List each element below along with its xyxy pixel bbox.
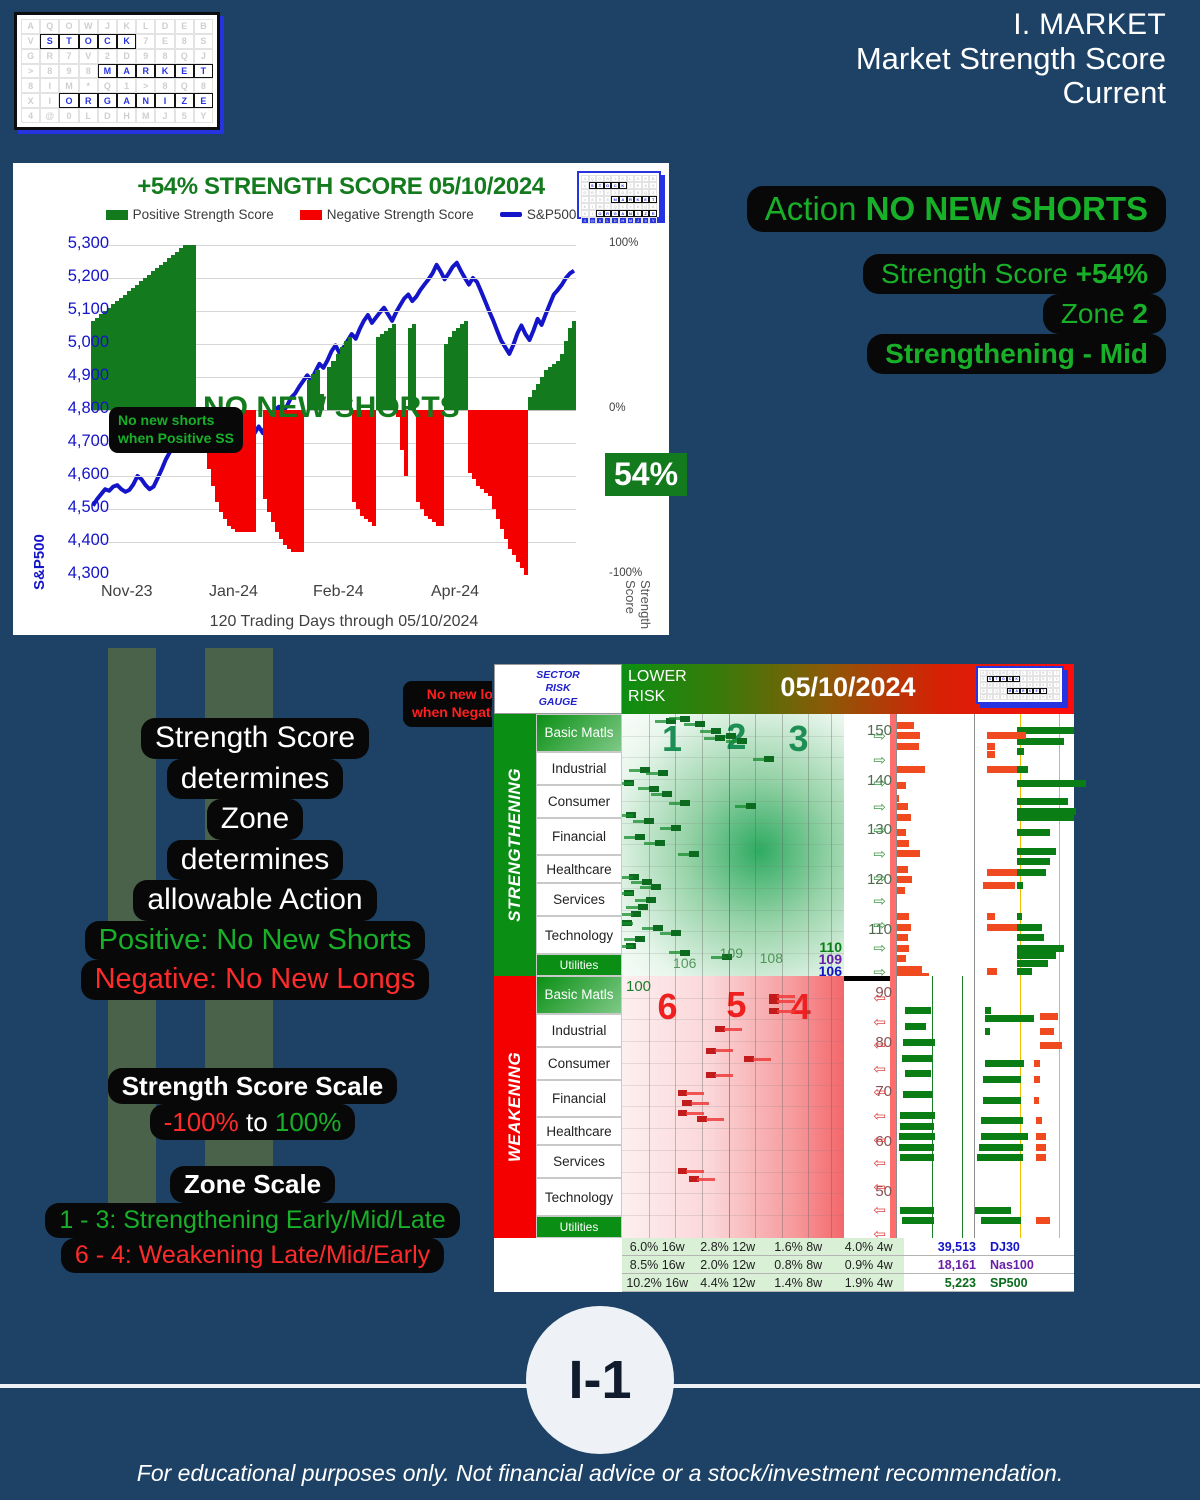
logo-cell: 7	[136, 34, 155, 49]
mini-bar	[1036, 1154, 1046, 1161]
strengthening-half: STRENGTHENING Basic MatlsIndustrialConsu…	[494, 714, 1074, 976]
logo-cell: W	[604, 175, 612, 182]
logo-cell: M	[136, 108, 155, 123]
disclaimer-text: For educational purposes only. Not finan…	[0, 1460, 1200, 1487]
logo-cell: 8	[155, 78, 174, 93]
sector-risk-gauge: SECTOR RISK GAUGE LOWER RISK 05/10/2024 …	[492, 662, 1076, 1294]
index-name: SP500	[982, 1276, 1074, 1290]
mini-index-inline-value: 109	[720, 945, 743, 961]
score-scale-range: -100% to 100%	[150, 1104, 356, 1140]
y-axis-tick: 5,100	[49, 300, 109, 319]
sector-row-healthcare[interactable]: Healthcare	[536, 1117, 622, 1145]
chart-gridline	[91, 245, 576, 246]
table-cell: 1.9% 4w	[834, 1274, 905, 1291]
mini-bar	[983, 1076, 1021, 1083]
weakening-axis-label: WEAKENING	[494, 976, 536, 1238]
chart-legend: Positive Strength Score Negative Strengt…	[13, 207, 669, 222]
sector-row-basic-matls[interactable]: Basic Matls	[536, 714, 622, 752]
y-axis-tick: 4,300	[49, 564, 109, 583]
logo-cell: Q	[980, 694, 987, 700]
chart-brand-logo: AQOWJKLDEBVSTOCK7E8SGR7V2D98QJ>898MARKET…	[577, 171, 661, 219]
logo-cell: J	[98, 19, 117, 34]
mini-bars-top-right	[974, 714, 1074, 976]
logo-cell: E	[642, 175, 650, 182]
zone-scale-title: Zone Scale	[170, 1166, 335, 1202]
action-label: Action	[765, 190, 857, 227]
mini-bar	[902, 1055, 933, 1062]
action-value: NO NEW SHORTS	[866, 190, 1148, 227]
logo-cell: T	[649, 196, 657, 203]
sector-row-consumer[interactable]: Consumer	[536, 785, 622, 818]
table-cell: 1.6% 8w	[763, 1238, 834, 1255]
gauge-brand-logo: AQOWJKLDEBV7ESTOCK8SGR7V2D98QJ>8988IM*Q1…	[976, 666, 1064, 704]
y-axis-tick: 5,300	[49, 234, 109, 253]
gauge-index-table: 6.0% 16w2.8% 12w1.6% 8w4.0% 4w39,513DJ30…	[622, 1238, 1074, 1292]
mini-bar	[1040, 1042, 1062, 1049]
sector-row-financial[interactable]: Financial	[536, 1080, 622, 1118]
logo-cell: Q	[98, 78, 117, 93]
y-axis-tick: 4,500	[49, 498, 109, 517]
logo-cell: 1	[117, 78, 136, 93]
mini-bar	[1040, 1028, 1054, 1035]
explainer-line-5: allowable Action	[133, 880, 376, 921]
logo-cell: 0	[59, 108, 78, 123]
logo-cell: I	[1000, 694, 1007, 700]
arrow-right-icon: ⇨	[873, 821, 886, 839]
mini-bar	[897, 840, 909, 847]
logo-cell: K	[634, 196, 642, 203]
logo-cell: >	[581, 196, 589, 203]
strength-score-value: +54%	[1076, 258, 1148, 289]
logo-cell: J	[649, 189, 657, 196]
mini-bar	[1036, 1133, 1046, 1140]
logo-cell: Q	[175, 78, 194, 93]
logo-cell: >	[627, 203, 635, 210]
logo-cell: A	[21, 19, 40, 34]
legend-item-sp500: S&P500	[500, 207, 577, 222]
arrow-left-icon: ⇦	[873, 1154, 886, 1172]
logo-cell: Q	[40, 19, 59, 34]
y-axis-tick: 4,600	[49, 465, 109, 484]
sector-marker-trail	[686, 1092, 704, 1095]
gauge-gridline-h	[622, 1215, 844, 1216]
logo-cell: R	[627, 196, 635, 203]
legend-label-sp500: S&P500	[527, 207, 577, 222]
logo-cell: R	[79, 93, 98, 108]
mini-bar	[897, 803, 908, 810]
mini-bar	[987, 968, 997, 975]
logo-cell: J	[611, 175, 619, 182]
explainer-positive-value: No New Shorts	[216, 924, 411, 956]
logo-cell: O	[596, 210, 604, 217]
logo-cell: R	[604, 210, 612, 217]
mini-bar	[975, 1207, 1011, 1214]
mini-bar	[1017, 814, 1074, 821]
page-title: Market Strength Score	[856, 42, 1166, 77]
mini-bar	[987, 913, 995, 920]
legend-swatch-positive	[106, 210, 128, 220]
strengthening-plot: 123110109106106109108	[622, 714, 844, 976]
logo-cell: Q	[642, 189, 650, 196]
y-axis-title: S&P500	[31, 534, 48, 590]
logo-cell: *	[604, 203, 612, 210]
gauge-gridline-h	[622, 1019, 844, 1020]
legend-label-positive: Positive Strength Score	[133, 207, 274, 222]
chart-gridline	[91, 542, 576, 543]
logo-cell: D	[155, 19, 174, 34]
phase-value: Strengthening - Mid	[867, 334, 1166, 374]
logo-cell: L	[604, 217, 612, 224]
mini-bar	[1017, 882, 1023, 889]
table-row: 8.5% 16w2.0% 12w0.8% 8w0.9% 4w18,161Nas1…	[622, 1256, 1074, 1274]
logo-cell: S	[194, 34, 213, 49]
mini-bar	[1017, 798, 1068, 805]
sector-row-healthcare[interactable]: Healthcare	[536, 855, 622, 883]
mini-bar	[985, 1028, 990, 1035]
arrow-right-icon: ⇨	[873, 727, 886, 745]
gauge-gridline-h	[622, 1063, 844, 1064]
logo-cell: I	[589, 203, 597, 210]
y-axis-tick: 4,800	[49, 399, 109, 418]
page-header: I. MARKET Market Strength Score Current	[856, 8, 1166, 111]
mini-bar	[1017, 924, 1043, 931]
mini-bar	[1017, 780, 1086, 787]
sector-marker-trail	[715, 1074, 733, 1077]
logo-cell: D	[619, 189, 627, 196]
y-axis-tick: 4,400	[49, 531, 109, 550]
mini-bar	[981, 1133, 1029, 1140]
sector-list-weakening: Basic MatlsIndustrialConsumerFinancialHe…	[536, 976, 622, 1238]
logo-cell: X	[21, 93, 40, 108]
chart-bar	[524, 410, 529, 575]
mini-bar	[899, 1144, 934, 1151]
x-axis-title: 120 Trading Days through 05/10/2024	[13, 613, 675, 631]
logo-cell: A	[581, 175, 589, 182]
sector-row-technology[interactable]: Technology	[536, 916, 622, 954]
logo-cell: T	[59, 34, 78, 49]
sector-row-utilities[interactable]: Utilities	[536, 954, 622, 976]
logo-cell: I	[155, 93, 174, 108]
sector-row-industrial[interactable]: Industrial	[536, 752, 622, 785]
logo-cell: 9	[136, 49, 155, 64]
sector-row-services[interactable]: Services	[536, 883, 622, 916]
logo-cell: M	[596, 203, 604, 210]
mini-bars-bottom-right	[974, 976, 1074, 1238]
logo-cell: 9	[627, 189, 635, 196]
logo-cell: Z	[642, 210, 650, 217]
mini-bar	[981, 1217, 1021, 1224]
arrow-left-icon: ⇦	[873, 1036, 886, 1054]
arrow-left-icon: ⇦	[873, 1178, 886, 1196]
action-panel: Action NO NEW SHORTS Strength Score +54%…	[747, 186, 1166, 374]
logo-cell: Q	[175, 49, 194, 64]
mini-bar	[1017, 869, 1047, 876]
mini-bar	[897, 924, 911, 931]
logo-cell: M	[611, 196, 619, 203]
strength-score-row: Strength Score +54%	[863, 254, 1166, 294]
logo-cell: 7	[59, 49, 78, 64]
logo-cell: I	[40, 93, 59, 108]
sector-marker-trail	[686, 1112, 704, 1115]
x-axis-tick: Jan-24	[209, 583, 258, 601]
sector-row-industrial[interactable]: Industrial	[536, 1014, 622, 1047]
gauge-gridline-h	[622, 1041, 844, 1042]
logo-cell: N	[136, 93, 155, 108]
strength-score-label: Strength Score	[881, 258, 1068, 289]
mini-bar	[1017, 848, 1057, 855]
mini-bar	[1017, 945, 1065, 952]
mini-index-inline-value: 108	[760, 950, 783, 966]
sector-row-services[interactable]: Services	[536, 1145, 622, 1178]
logo-cell: O	[79, 34, 98, 49]
table-row: 10.2% 16w4.4% 12w1.4% 8w1.9% 4w5,223SP50…	[622, 1274, 1074, 1292]
mini-bar	[900, 1154, 934, 1161]
chart-bar	[572, 321, 576, 410]
callout-positive-rule: No new shorts when Positive SS	[109, 407, 243, 453]
sector-row-basic-matls[interactable]: Basic Matls	[536, 976, 622, 1014]
logo-cell: S	[649, 182, 657, 189]
logo-cell: K	[619, 175, 627, 182]
logo-cell: O	[59, 93, 78, 108]
mini-bar	[897, 782, 906, 789]
logo-cell: D	[1033, 694, 1040, 700]
logo-cell: I	[589, 210, 597, 217]
secondary-y-axis-tick: 100%	[609, 237, 638, 249]
mini-bar	[1017, 968, 1033, 975]
logo-cell: I	[634, 210, 642, 217]
zone-scale-weakening: 6 - 4: Weakening Late/Mid/Early	[61, 1238, 444, 1273]
logo-cell: D	[98, 108, 117, 123]
explainer-negative-value: No New Longs	[225, 963, 415, 995]
logo-cell: M	[59, 78, 78, 93]
table-cell: 0.9% 4w	[834, 1256, 905, 1273]
logo-cell: 9	[59, 64, 78, 79]
table-row: 6.0% 16w2.8% 12w1.6% 8w4.0% 4w39,513DJ30	[622, 1238, 1074, 1256]
strengthening-label-text: STRENGTHENING	[505, 768, 525, 922]
mini-bar	[897, 732, 920, 739]
logo-cell: K	[117, 19, 136, 34]
logo-cell: S	[40, 34, 59, 49]
brand-logo: AQOWJKLDEBVSTOCK7E8SGR7V2D98QJ>898MARKET…	[14, 12, 220, 130]
mini-bar	[1034, 1076, 1040, 1083]
mini-bar	[1017, 766, 1029, 773]
logo-crossword-grid: AQOWJKLDEBVSTOCK7E8SGR7V2D98QJ>898MARKET…	[21, 19, 213, 123]
logo-cell: 8	[175, 34, 194, 49]
mini-bar	[897, 945, 909, 952]
logo-cell: M	[98, 64, 117, 79]
legend-item-positive: Positive Strength Score	[106, 207, 274, 222]
mini-index-inline-value: 106	[673, 955, 696, 971]
logo-cell: 0	[596, 217, 604, 224]
logo-cell: K	[117, 34, 136, 49]
sector-list-strengthening: Basic MatlsIndustrialConsumerFinancialHe…	[536, 714, 622, 976]
secondary-y-axis-tick: -100%	[609, 567, 642, 579]
mini-bar	[897, 934, 908, 941]
mini-bar	[1036, 1117, 1042, 1124]
arrow-right-icon: ⇨	[873, 892, 886, 910]
logo-cell: V	[604, 189, 612, 196]
logo-cell: Q	[642, 203, 650, 210]
arrow-right-icon: ⇨	[873, 939, 886, 957]
risk-gradient-bar: LOWER RISK 05/10/2024 HIGHER RISK AQOWJK…	[622, 664, 1074, 714]
logo-cell: Q	[589, 175, 597, 182]
logo-cell: E	[634, 182, 642, 189]
explainer-block: Strength Score determines Zone determine…	[40, 718, 470, 1000]
logo-cell: R	[40, 49, 59, 64]
logo-cell: 7	[596, 189, 604, 196]
sector-marker-trail	[706, 1118, 724, 1121]
y-axis-tick: 5,000	[49, 333, 109, 352]
logo-cell: >	[136, 78, 155, 93]
arrow-right-icon: ⇨	[873, 774, 886, 792]
logo-cell: 8	[987, 694, 994, 700]
gauge-title-line1: SECTOR	[536, 669, 580, 682]
sector-row-technology[interactable]: Technology	[536, 1178, 622, 1216]
y-axis-tick: 4,900	[49, 366, 109, 385]
logo-cell: 8	[589, 196, 597, 203]
logo-cell: 8	[194, 78, 213, 93]
logo-cell: O	[596, 175, 604, 182]
gauge-title: SECTOR RISK GAUGE	[494, 664, 622, 714]
logo-cell: 9	[596, 196, 604, 203]
arrow-left-icon: ⇦	[873, 989, 886, 1007]
index-value: 39,513	[904, 1240, 982, 1254]
mini-bar	[983, 1097, 1021, 1104]
mini-chart-axis	[932, 976, 933, 1238]
mini-chart-axis	[1059, 976, 1060, 1238]
logo-cell: H	[117, 108, 136, 123]
logo-cell: 8	[634, 189, 642, 196]
logo-cell: Z	[175, 93, 194, 108]
page-badge: I-1	[526, 1306, 674, 1454]
sector-marker-trail	[777, 1000, 795, 1003]
table-cell: 10.2% 16w	[622, 1274, 693, 1291]
sector-marker-trail	[777, 995, 795, 998]
logo-cell: M	[1047, 694, 1054, 700]
mini-bar	[979, 1144, 1023, 1151]
scale-column-weakening: 9080706050⇦⇦⇦⇦⇦⇦⇦⇦⇦⇦⇦	[844, 976, 896, 1238]
logo-cell: R	[136, 64, 155, 79]
logo-cell: E	[175, 19, 194, 34]
sector-row-financial[interactable]: Financial	[536, 818, 622, 856]
logo-cell: @	[589, 217, 597, 224]
mini-bar	[897, 887, 905, 894]
mini-bar	[977, 1154, 1023, 1161]
table-cell: 4.4% 12w	[693, 1274, 764, 1291]
logo-cell: W	[79, 19, 98, 34]
explainer-line-2: determines	[167, 759, 343, 800]
header-subtitle: Current	[856, 76, 1166, 111]
table-cell: 1.4% 8w	[763, 1274, 834, 1291]
arrow-right-icon: ⇨	[873, 869, 886, 887]
mini-bar	[897, 966, 922, 973]
table-cell: 2.0% 12w	[693, 1256, 764, 1273]
logo-cell: J	[634, 217, 642, 224]
logo-cell: B	[649, 175, 657, 182]
logo-cell: L	[136, 19, 155, 34]
logo-cell: @	[40, 108, 59, 123]
arrow-left-icon: ⇦	[873, 1201, 886, 1219]
logo-cell: D	[117, 49, 136, 64]
sector-marker-trail	[691, 1102, 709, 1105]
mini-bar	[985, 1007, 991, 1014]
logo-cell: 8	[581, 203, 589, 210]
sector-row-utilities[interactable]: Utilities	[536, 1216, 622, 1238]
logo-crossword-grid-small: AQOWJKLDEBVSTOCK7E8SGR7V2D98QJ>898MARKET…	[581, 175, 657, 215]
chart-bar	[464, 321, 469, 410]
mini-bar	[1017, 829, 1051, 836]
mini-bar	[987, 743, 995, 750]
zone-value: 2	[1132, 298, 1148, 329]
logo-cell: K	[619, 182, 627, 189]
logo-cell: E	[155, 34, 174, 49]
arrow-left-icon: ⇦	[873, 1013, 886, 1031]
mini-bar	[985, 1015, 1035, 1022]
explainer-negative-rule: Negative: No New Longs	[81, 960, 430, 999]
logo-cell: M	[627, 217, 635, 224]
logo-cell: 8	[649, 203, 657, 210]
mini-bar	[897, 876, 912, 883]
logo-cell: 4	[21, 108, 40, 123]
strengthening-axis-label: STRENGTHENING	[494, 714, 536, 976]
explainer-negative-prefix: Negative:	[95, 963, 226, 995]
logo-cell: C	[611, 182, 619, 189]
mini-bar	[905, 1007, 931, 1014]
logo-cell: A	[117, 93, 136, 108]
logo-cell: 8	[155, 49, 174, 64]
explainer-line-4: determines	[167, 840, 343, 881]
logo-cell: A	[619, 196, 627, 203]
mini-bar	[905, 1023, 927, 1030]
mini-bar	[900, 1112, 935, 1119]
logo-cell: Y	[194, 108, 213, 123]
logo-cell: E	[194, 93, 213, 108]
index-value: 5,223	[904, 1276, 982, 1290]
logo-cell: G	[611, 210, 619, 217]
logo-cell: G	[581, 189, 589, 196]
table-cell: 4.0% 4w	[834, 1238, 905, 1255]
x-axis-tick: Apr-24	[431, 583, 479, 601]
score-scale-sep: to	[239, 1107, 275, 1137]
score-scale-title: Strength Score Scale	[108, 1068, 398, 1104]
logo-cell: A	[117, 64, 136, 79]
logo-cell: B	[194, 19, 213, 34]
zone-label: Zone	[1061, 298, 1125, 329]
chart-title: +54% STRENGTH SCORE 05/10/2024	[13, 173, 669, 201]
mini-bar	[897, 913, 909, 920]
mini-chart-axis	[1059, 714, 1060, 976]
logo-cell: T	[596, 182, 604, 189]
sector-row-consumer[interactable]: Consumer	[536, 1047, 622, 1080]
mini-bar	[900, 1123, 934, 1130]
mini-chart-axis	[962, 976, 963, 1238]
mini-bar	[1017, 858, 1051, 865]
logo-cell: D	[611, 217, 619, 224]
gauge-gridline-h	[622, 1150, 844, 1151]
mini-bars-bottom-left	[896, 976, 974, 1238]
logo-cell: 7	[627, 182, 635, 189]
chart-bar	[299, 410, 304, 552]
action-row: Action NO NEW SHORTS	[747, 186, 1166, 232]
legend-label-negative: Negative Strength Score	[327, 207, 474, 222]
logo-cell: V	[21, 34, 40, 49]
logo-cell: C	[98, 34, 117, 49]
weakening-label-text: WEAKENING	[505, 1052, 525, 1162]
logo-cell: E	[649, 210, 657, 217]
chart-bar	[372, 410, 377, 526]
logo-cell: S	[589, 182, 597, 189]
index-mini-lines	[622, 714, 844, 976]
